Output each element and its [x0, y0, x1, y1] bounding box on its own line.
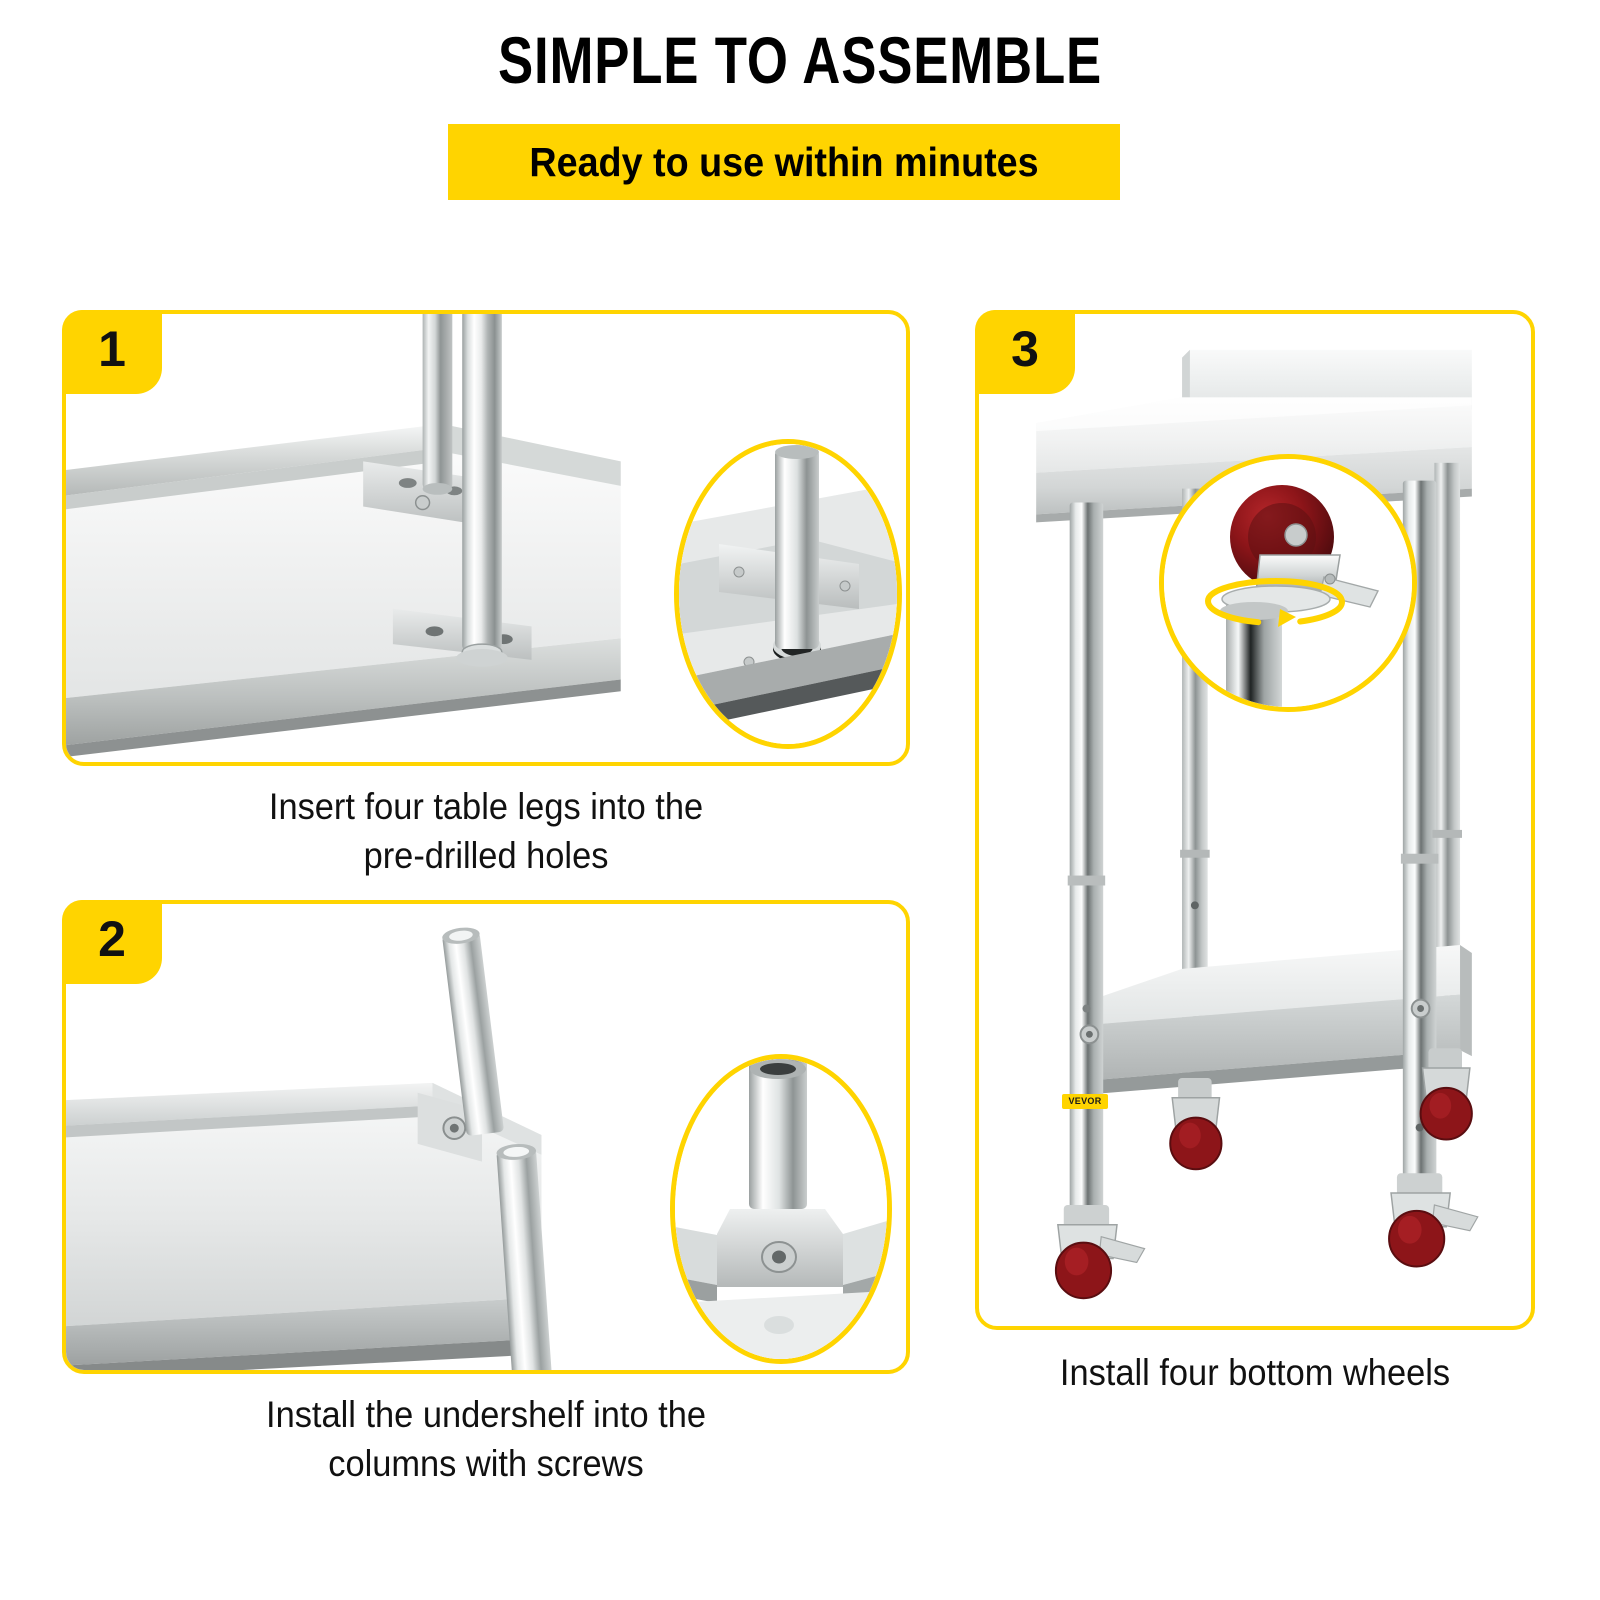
subtitle-banner: Ready to use within minutes — [448, 124, 1120, 200]
step-panel-3 — [975, 310, 1535, 1330]
step-caption-1: Insert four table legs into the pre-dril… — [92, 782, 881, 880]
step-badge-3: 3 — [975, 310, 1075, 394]
step-3-inset-callout — [1159, 454, 1417, 712]
step-caption-3: Install four bottom wheels — [976, 1348, 1534, 1397]
step-2-inset-callout — [670, 1054, 892, 1364]
step-1-inset-callout — [674, 439, 902, 749]
step-panel-2 — [62, 900, 910, 1374]
page-title: SIMPLE TO ASSEMBLE — [160, 22, 1440, 98]
subtitle-text: Ready to use within minutes — [475, 124, 1093, 200]
header: SIMPLE TO ASSEMBLE Ready to use within m… — [0, 0, 1600, 230]
vevor-brand-label: VEVOR — [1062, 1094, 1108, 1109]
step-badge-1: 1 — [62, 310, 162, 394]
step-panel-1 — [62, 310, 910, 766]
step-caption-2: Install the undershelf into the columns … — [92, 1390, 881, 1488]
step-badge-2: 2 — [62, 900, 162, 984]
